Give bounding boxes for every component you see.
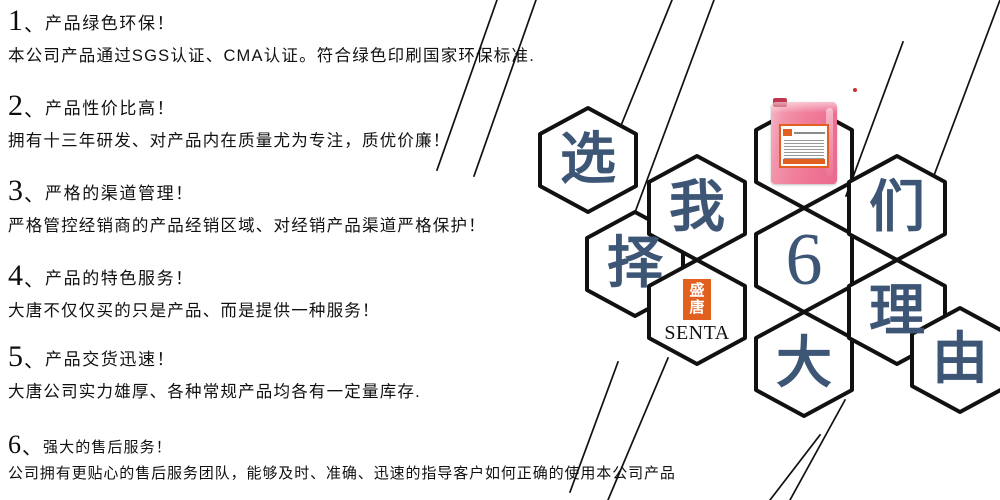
feature-separator: 、 <box>24 263 44 292</box>
product-drum-image <box>771 102 837 184</box>
hex-cell-xuan[interactable]: 选 <box>536 104 640 216</box>
feature-body: 大唐不仅仅买的只是产品、而是提供一种服务！ <box>8 300 380 322</box>
hex-cell-product-image[interactable] <box>752 100 856 212</box>
logo-seal-icon: 盛 唐 <box>683 279 710 320</box>
feature-item-5: 5 、 产品交货迅速！ 大唐公司实力雄厚、各种常规产品均各有一定量库存. <box>8 342 421 403</box>
hex-label: 选 <box>560 132 616 188</box>
feature-body: 大唐公司实力雄厚、各种常规产品均各有一定量库存. <box>8 381 421 403</box>
feature-item-2: 2 、 产品性价比高！ 拥有十三年研发、对产品内在质量尤为专注，质优价廉！ <box>8 91 451 152</box>
feature-number: 4 <box>8 261 23 291</box>
hex-cell-logo[interactable]: 盛 唐 SENTA <box>645 256 749 368</box>
feature-heading: 6 、 强大的售后服务！ <box>8 430 676 462</box>
feature-item-1: 1 、 产品绿色环保！ 本公司产品通过SGS认证、CMA认证。符合绿色印刷国家环… <box>8 6 535 67</box>
hex-label: 6 <box>786 223 823 297</box>
hex-cell-da[interactable]: 大 <box>752 308 856 420</box>
hex-label: 大 <box>776 336 832 392</box>
feature-item-6: 6 、 强大的售后服务！ 公司拥有更贴心的售后服务团队，能够及时、准确、迅速的指… <box>8 430 676 485</box>
logo-seal-char-2: 唐 <box>689 299 704 316</box>
feature-heading: 2 、 产品性价比高！ <box>8 91 451 129</box>
hex-cell-six[interactable]: 6 <box>752 204 856 316</box>
feature-heading: 3 、 严格的渠道管理！ <box>8 176 486 214</box>
feature-separator: 、 <box>24 93 44 122</box>
feature-title: 产品交货迅速！ <box>45 345 175 370</box>
feature-separator: 、 <box>22 431 42 460</box>
feature-number: 3 <box>8 176 23 206</box>
feature-number: 6 <box>8 432 21 458</box>
feature-title: 产品性价比高！ <box>45 94 175 119</box>
hex-cell-men[interactable]: 们 <box>845 152 949 264</box>
drum-label <box>779 124 829 168</box>
hex-label: 我 <box>669 180 725 236</box>
feature-item-4: 4 、 产品的特色服务！ 大唐不仅仅买的只是产品、而是提供一种服务！ <box>8 261 380 322</box>
feature-body: 本公司产品通过SGS认证、CMA认证。符合绿色印刷国家环保标准. <box>8 45 535 67</box>
feature-number: 1 <box>8 6 23 36</box>
feature-title: 强大的售后服务！ <box>43 436 172 457</box>
feature-body: 拥有十三年研发、对产品内在质量尤为专注，质优价廉！ <box>8 130 451 152</box>
feature-body: 严格管控经销商的产品经销区域、对经销产品渠道严格保护！ <box>8 215 486 237</box>
feature-body: 公司拥有更贴心的售后服务团队，能够及时、准确、迅速的指导客户如何正确的使用本公司… <box>8 463 676 485</box>
hex-label: 由 <box>932 332 988 388</box>
feature-item-3: 3 、 严格的渠道管理！ 严格管控经销商的产品经销区域、对经销产品渠道严格保护！ <box>8 176 486 237</box>
feature-number: 5 <box>8 342 23 372</box>
feature-title: 产品的特色服务！ <box>45 264 194 289</box>
feature-separator: 、 <box>24 8 44 37</box>
feature-title: 严格的渠道管理！ <box>45 179 194 204</box>
feature-title: 产品绿色环保！ <box>45 9 175 34</box>
feature-separator: 、 <box>24 344 44 373</box>
hex-cell-you[interactable]: 由 <box>908 304 1000 416</box>
hex-label: 们 <box>869 180 925 236</box>
feature-number: 2 <box>8 91 23 121</box>
feature-heading: 5 、 产品交货迅速！ <box>8 342 421 380</box>
logo-wordmark: SENTA <box>664 322 729 345</box>
logo-seal-char-1: 盛 <box>689 282 704 299</box>
feature-separator: 、 <box>24 178 44 207</box>
poster-canvas: 选 择 我 盛 唐 <box>0 0 1000 500</box>
brand-logo: 盛 唐 SENTA <box>664 279 729 345</box>
feature-heading: 4 、 产品的特色服务！ <box>8 261 380 299</box>
hex-cell-wo[interactable]: 我 <box>645 152 749 264</box>
feature-heading: 1 、 产品绿色环保！ <box>8 6 535 44</box>
